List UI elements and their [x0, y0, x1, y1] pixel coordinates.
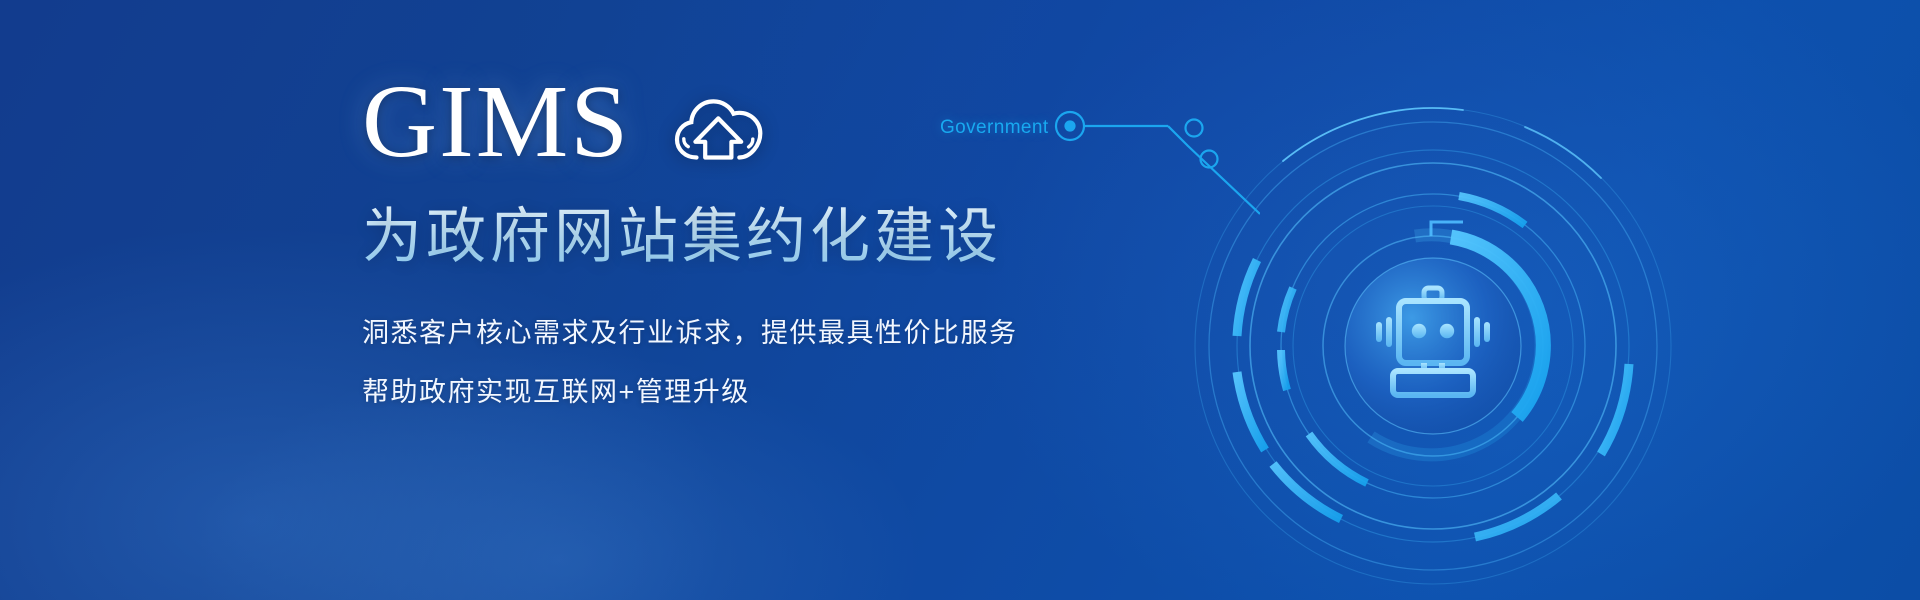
government-node-label: Government [940, 117, 1049, 139]
hud-center-disc [1345, 258, 1521, 434]
subtitle-line-1: 洞悉客户核心需求及行业诉求，提供最具性价比服务 [362, 315, 1262, 351]
hero-text-block: GIMS 为政府网站集约化建设 洞悉客户核心需求及行业诉求，提供最具性价比服务 … [362, 62, 1262, 432]
brand-row: GIMS [362, 62, 1262, 182]
brand-title: GIMS [362, 70, 630, 174]
subtitle-line-2: 帮助政府实现互联网+管理升级 [362, 374, 1262, 410]
cloud-upload-icon [672, 89, 764, 170]
hero-headline: 为政府网站集约化建设 [362, 200, 1262, 273]
hero-subtitle: 洞悉客户核心需求及行业诉求，提供最具性价比服务 帮助政府实现互联网+管理升级 [362, 315, 1262, 410]
hero-banner: GIMS 为政府网站集约化建设 洞悉客户核心需求及行业诉求，提供最具性价比服务 … [0, 0, 1920, 600]
